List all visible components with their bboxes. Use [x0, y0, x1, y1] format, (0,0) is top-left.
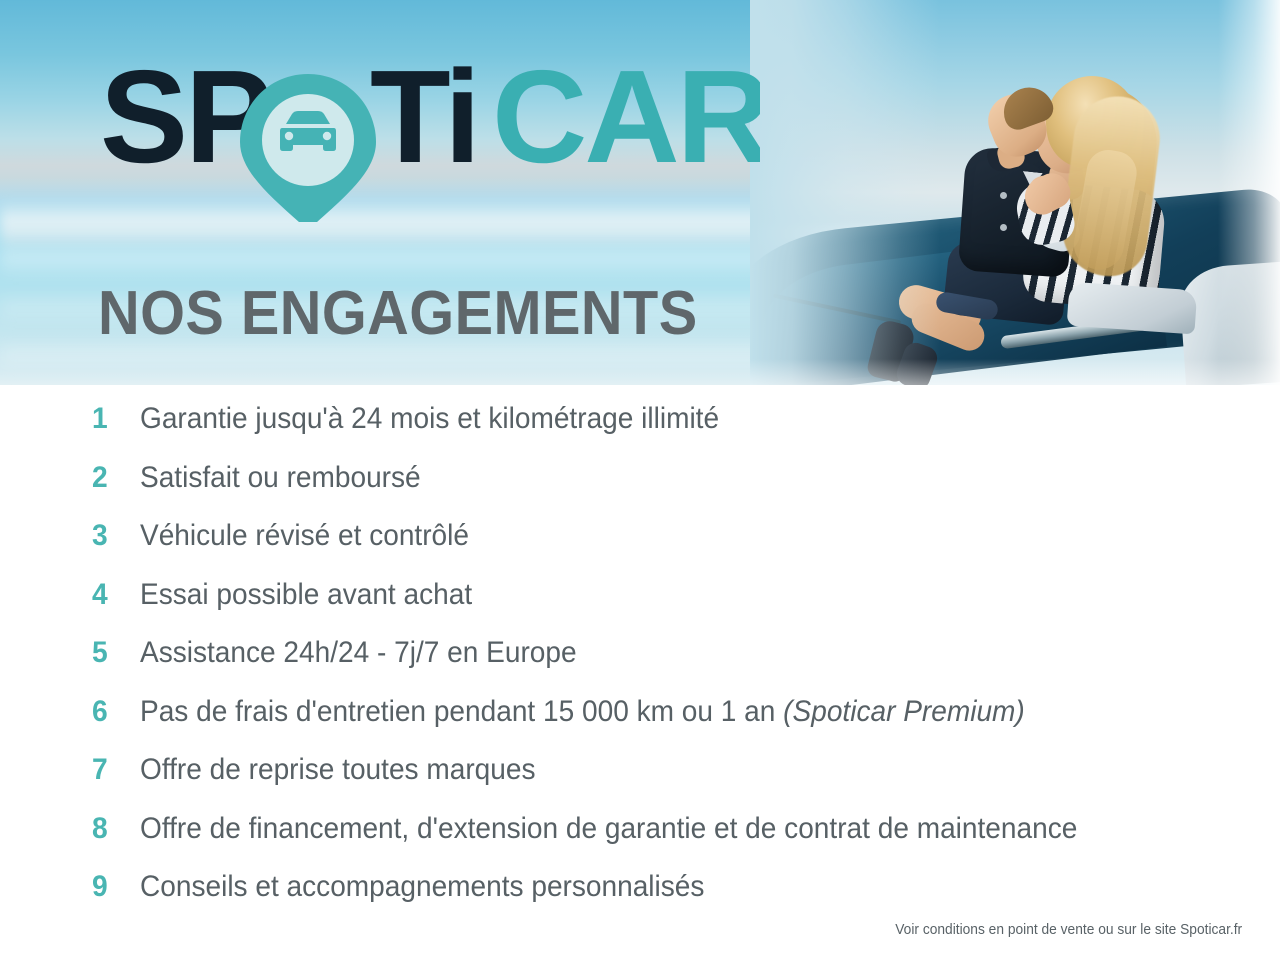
list-item: 7 Offre de reprise toutes marques	[92, 753, 1280, 812]
list-item-number: 6	[92, 695, 137, 729]
hero-photo	[750, 0, 1280, 385]
list-item-number: 4	[92, 578, 137, 612]
photo-right-fade	[1218, 0, 1280, 385]
map-pin-car-icon	[240, 74, 376, 222]
list-item: 1 Garantie jusqu'à 24 mois et kilométrag…	[92, 402, 1280, 461]
list-item: 3 Véhicule révisé et contrôlé	[92, 519, 1280, 578]
list-item: 5 Assistance 24h/24 - 7j/7 en Europe	[92, 636, 1280, 695]
child-button-shape	[1000, 224, 1007, 231]
page-title: NOS ENGAGEMENTS	[98, 283, 698, 345]
woman-skirt-shape	[1067, 282, 1198, 335]
photo-left-fade	[750, 0, 940, 385]
list-item-text: Conseils et accompagnements personnalisé…	[140, 870, 704, 904]
list-item: 8 Offre de financement, d'extension de g…	[92, 812, 1280, 871]
list-item: 2 Satisfait ou remboursé	[92, 461, 1280, 520]
list-item-text: Pas de frais d'entretien pendant 15 000 …	[140, 695, 1025, 729]
list-item-text: Garantie jusqu'à 24 mois et kilométrage …	[140, 402, 719, 436]
list-item-number: 3	[92, 519, 137, 553]
list-item-text: Essai possible avant achat	[140, 578, 472, 612]
svg-text:Ti: Ti	[370, 52, 477, 190]
list-item: 9 Conseils et accompagnements personnali…	[92, 870, 1280, 929]
photo-bottom-fade	[750, 359, 1280, 385]
list-item-text: Offre de reprise toutes marques	[140, 753, 536, 787]
legal-disclaimer: Voir conditions en point de vente ou sur…	[895, 922, 1242, 938]
commitments-list: 1 Garantie jusqu'à 24 mois et kilométrag…	[0, 402, 1280, 929]
list-item-number: 2	[92, 461, 137, 495]
list-item-number: 7	[92, 753, 137, 787]
list-item-number: 8	[92, 812, 137, 846]
list-item-text: Véhicule révisé et contrôlé	[140, 519, 469, 553]
logo-text-car: CAR	[492, 52, 760, 190]
list-item-number: 1	[92, 402, 137, 436]
list-item-text: Offre de financement, d'extension de gar…	[140, 812, 1077, 846]
spoticar-logo: SP Ti CAR	[100, 52, 760, 222]
list-item: 6 Pas de frais d'entretien pendant 15 00…	[92, 695, 1280, 754]
list-item-number: 9	[92, 870, 137, 904]
list-item-text: Satisfait ou remboursé	[140, 461, 421, 495]
list-item-text: Assistance 24h/24 - 7j/7 en Europe	[140, 636, 577, 670]
child-button-shape	[1000, 192, 1007, 199]
svg-text:CAR: CAR	[492, 52, 760, 190]
hero-banner: SP Ti CAR	[0, 0, 1280, 385]
spoticar-commitments-page: SP Ti CAR	[0, 0, 1280, 960]
list-item-number: 5	[92, 636, 137, 670]
list-item: 4 Essai possible avant achat	[92, 578, 1280, 637]
logo-text-ti: Ti	[370, 52, 477, 190]
